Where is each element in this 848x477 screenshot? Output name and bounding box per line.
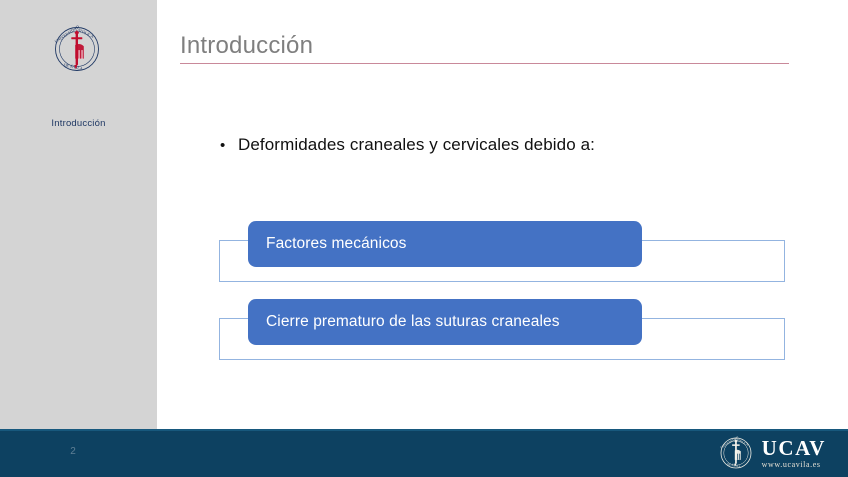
- bullet-list-item: • Deformidades craneales y cervicales de…: [220, 133, 780, 158]
- diagram-chip-label: Cierre prematuro de las suturas craneale…: [266, 312, 560, 332]
- brand-name: UCAV: [762, 437, 826, 459]
- ucav-seal-icon: UNIVERSIDAD CATÓLICA DE ÁVILA: [719, 435, 753, 471]
- footer-top-edge: [0, 429, 848, 431]
- bullet-marker-icon: •: [220, 134, 238, 158]
- diagram-chip-factores-mecanicos[interactable]: Factores mecánicos: [248, 221, 642, 267]
- title-divider: [180, 63, 789, 64]
- page-title-block: Introducción: [180, 30, 790, 62]
- footer-brand: UNIVERSIDAD CATÓLICA DE ÁVILA UCAV www.u…: [719, 434, 826, 472]
- diagram-group-2: Cierre prematuro de las suturas craneale…: [219, 318, 785, 360]
- bullet-text: Deformidades craneales y cervicales debi…: [238, 133, 595, 157]
- page-number: 2: [62, 445, 84, 459]
- sidebar: UNIVERSIDAD CATÓLICA DE ÁVILA Introducci…: [0, 0, 157, 429]
- sidebar-nav: Introducción: [0, 117, 157, 131]
- page-title: Introducción: [180, 30, 790, 62]
- brand-url: www.ucavila.es: [762, 459, 826, 470]
- footer-wordmark: UCAV www.ucavila.es: [762, 437, 826, 470]
- diagram-chip-cierre-prematuro[interactable]: Cierre prematuro de las suturas craneale…: [248, 299, 642, 345]
- diagram-group-1: Factores mecánicos: [219, 240, 785, 282]
- sidebar-item-introduccion[interactable]: Introducción: [0, 117, 157, 131]
- slide-canvas: UNIVERSIDAD CATÓLICA DE ÁVILA Introducci…: [0, 0, 848, 477]
- diagram-chip-label: Factores mecánicos: [266, 234, 407, 254]
- ucav-seal-icon: UNIVERSIDAD CATÓLICA DE ÁVILA: [52, 23, 102, 75]
